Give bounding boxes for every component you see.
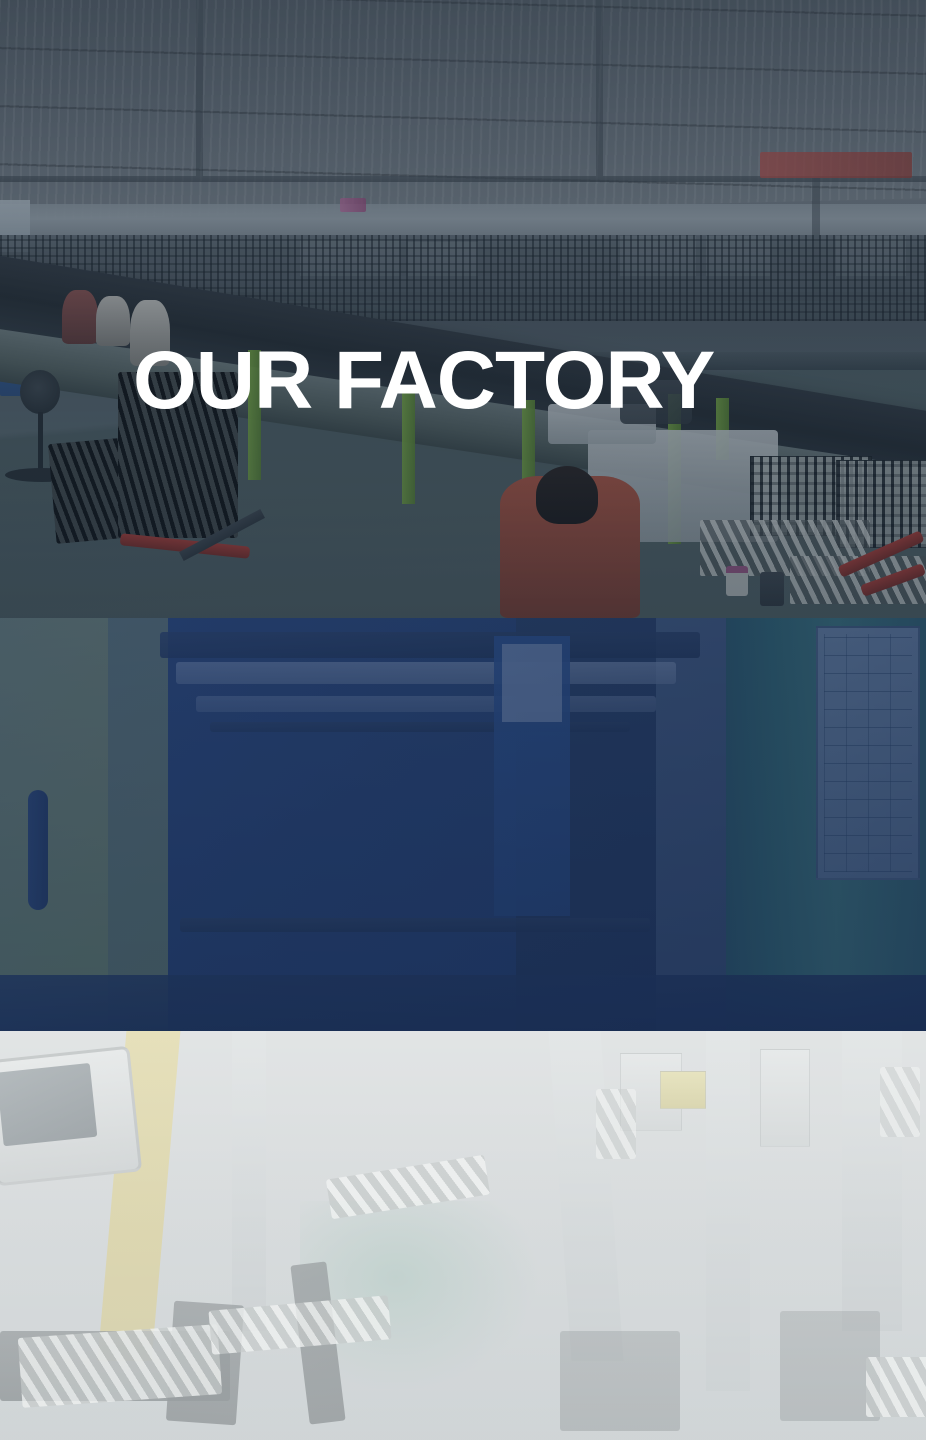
panel-injection-molding: INJECTION MOLDING WORKSHOP xyxy=(0,618,926,1031)
panel-raw-material-processing: RAW MATERIAL PROCESSING WORKSHOP xyxy=(0,1031,926,1440)
injection-photo-tint xyxy=(0,618,926,1031)
raw-material-photo-tint xyxy=(0,1031,926,1440)
factory-showcase-page: OUR FACTORY INJECTION MOLDING WOR xyxy=(0,0,926,1440)
panel-our-factory: OUR FACTORY xyxy=(0,0,926,618)
panel-caption-our-factory: OUR FACTORY xyxy=(133,333,714,428)
factory-photo-tint xyxy=(0,0,926,618)
